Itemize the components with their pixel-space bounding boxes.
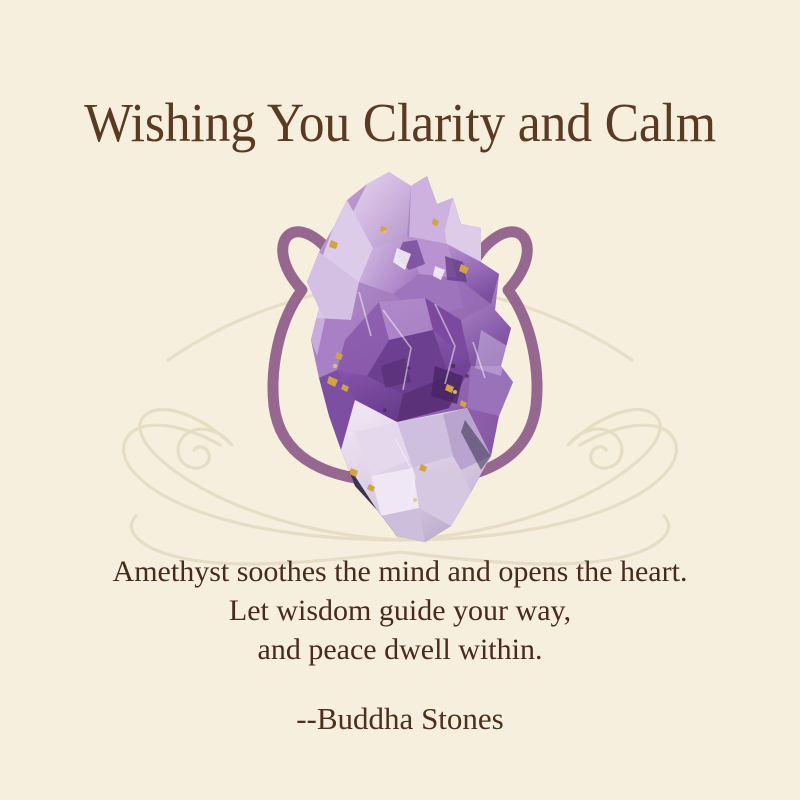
verse-line-3: and peace dwell within. bbox=[0, 630, 800, 669]
amethyst-crystal-cluster bbox=[285, 170, 520, 545]
verse-line-1: Amethyst soothes the mind and opens the … bbox=[0, 552, 800, 591]
verse-line-2: Let wisdom guide your way, bbox=[0, 591, 800, 630]
greeting-card: Wishing You Clarity and Calm bbox=[0, 0, 800, 800]
artwork-block bbox=[240, 170, 570, 555]
page-title: Wishing You Clarity and Calm bbox=[24, 92, 776, 154]
attribution: --Buddha Stones bbox=[0, 700, 800, 738]
verse-text: Amethyst soothes the mind and opens the … bbox=[0, 552, 800, 669]
